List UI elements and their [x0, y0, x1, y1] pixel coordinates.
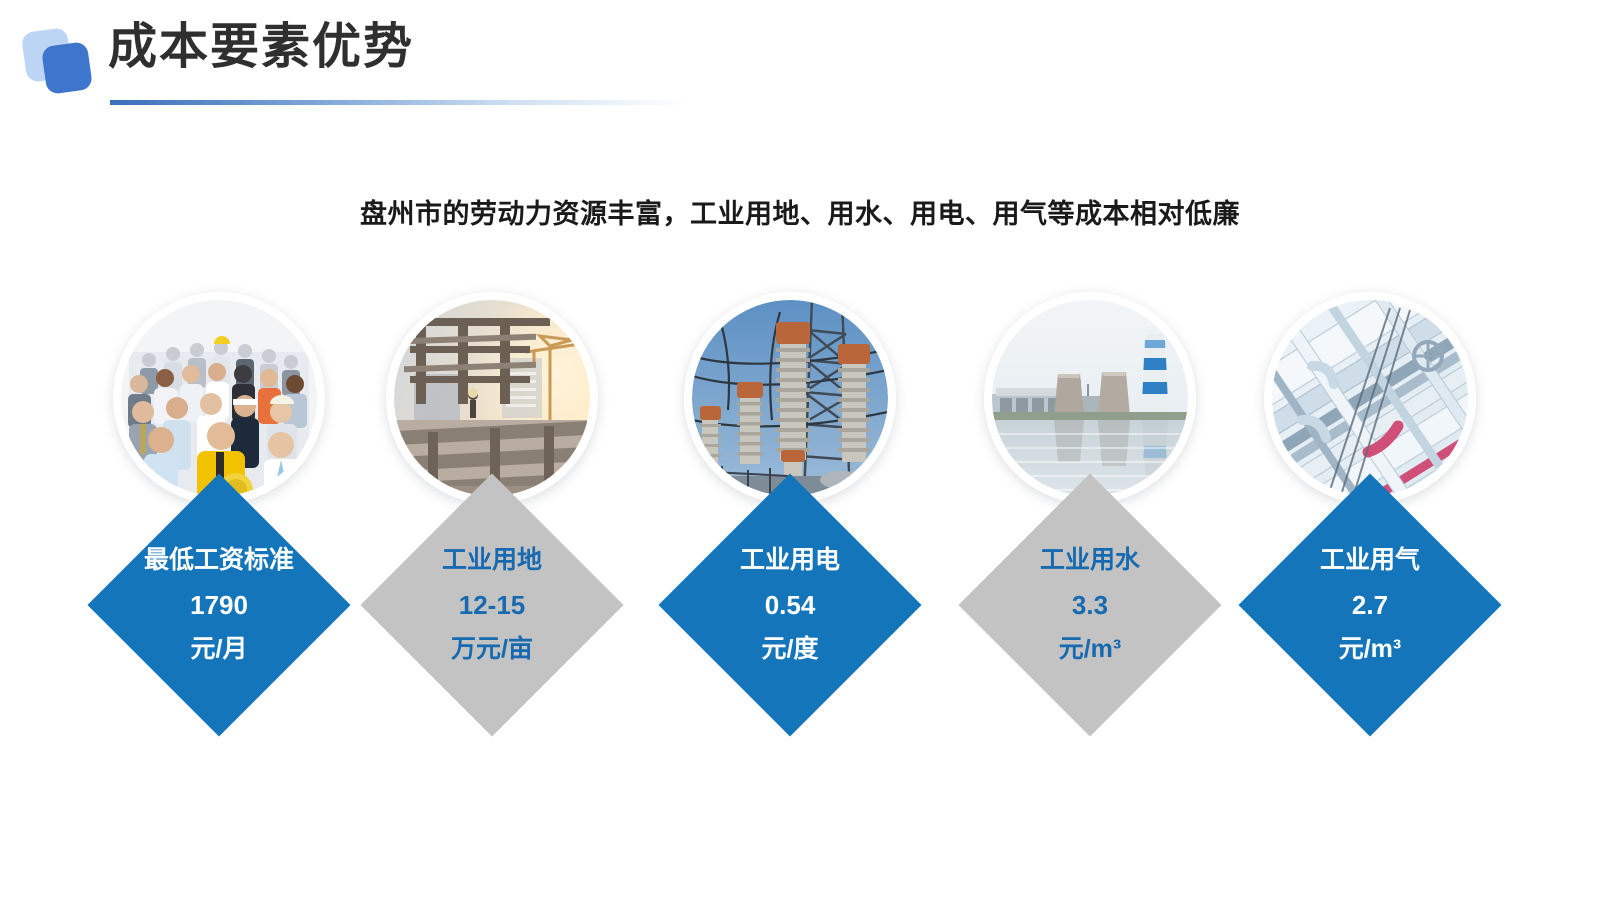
slide-header: 成本要素优势: [0, 0, 1600, 120]
diamond-shape-2: [360, 473, 623, 736]
diamond-shape-5: [1238, 473, 1501, 736]
cost-factor-card-row: 最低工资标准 1790 元/月: [0, 280, 1600, 840]
photo-circle-2: [386, 292, 598, 504]
power-plant-cooling-towers-photo: [992, 300, 1188, 496]
cost-card-5[interactable]: 工业用气 2.7 元/m³: [1180, 280, 1560, 800]
industrial-pipes-photo: [1272, 300, 1468, 496]
logo-square-front: [41, 41, 93, 95]
construction-site-photo: [394, 300, 590, 496]
two-rounded-squares-logo-icon: [22, 26, 100, 98]
group-of-workers-photo: [121, 300, 317, 496]
photo-circle-1: [113, 292, 325, 504]
diamond-shape-3: [658, 473, 921, 736]
title-underline-rule: [110, 100, 688, 105]
electric-substation-photo: [692, 300, 888, 496]
photo-circle-3: [684, 292, 896, 504]
photo-circle-5: [1264, 292, 1476, 504]
photo-circle-4: [984, 292, 1196, 504]
page-title: 成本要素优势: [108, 16, 414, 80]
subtitle-text: 盘州市的劳动力资源丰富，工业用地、用水、用电、用气等成本相对低廉: [0, 192, 1600, 231]
